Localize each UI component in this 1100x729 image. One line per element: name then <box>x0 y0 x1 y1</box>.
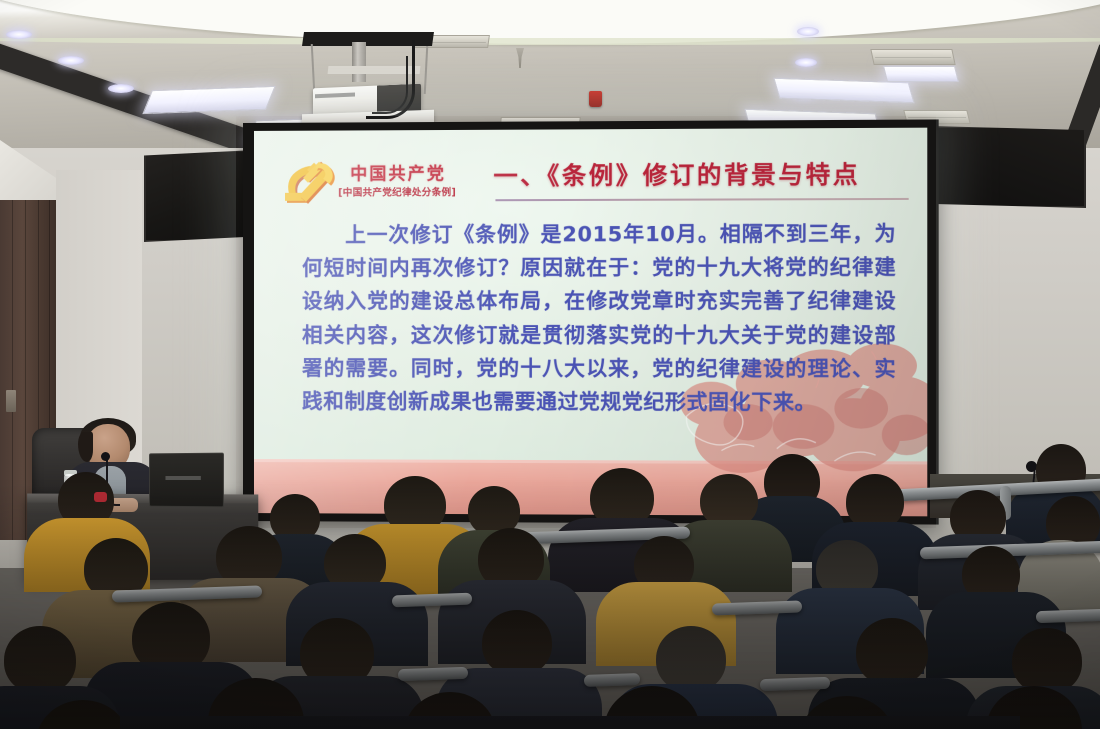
seat-row-rail <box>584 673 640 687</box>
seat-row-rail <box>760 677 830 691</box>
audience-hair-clip <box>94 492 107 502</box>
track-spotlight <box>6 30 32 39</box>
audience-head <box>856 618 928 686</box>
track-spotlight <box>797 27 819 36</box>
seat-row-rail <box>1036 609 1100 623</box>
wall-switch-plate[interactable] <box>6 390 16 412</box>
track-spotlight <box>795 58 817 67</box>
seat-row-rail <box>398 667 468 681</box>
recessed-light-panel <box>142 86 275 114</box>
fire-alarm-strobe <box>589 91 602 107</box>
slide-header: 中国共产党 [中国共产党纪律处分条例] 一、《条例》修订的背景与特点 <box>254 148 927 213</box>
track-spotlight <box>108 84 134 93</box>
hammer-and-sickle-emblem <box>280 159 346 207</box>
projector-support-rod <box>311 44 316 92</box>
slide-brand-subtitle: [中国共产党纪律处分条例] <box>338 184 456 198</box>
projector-cable <box>372 56 408 114</box>
lecture-hall-photograph: 中国共产党 [中国共产党纪律处分条例] 一、《条例》修订的背景与特点 上一次修订… <box>0 0 1100 729</box>
air-vent <box>870 49 955 65</box>
seated-audience <box>0 430 1100 729</box>
audience-head <box>482 610 552 676</box>
audience-body <box>120 716 1020 729</box>
projector-mount-pole <box>352 42 366 82</box>
audience-head <box>656 626 726 692</box>
wall-speaker-panel-right <box>930 126 1086 208</box>
ceiling-cove-edge <box>0 38 1100 45</box>
audience-head <box>4 626 76 694</box>
slide-body-text: 上一次修订《条例》是2015年10月。相隔不到三年，为何短时间内再次修订？原因就… <box>302 217 896 420</box>
wall-speaker-panel-left <box>144 150 256 242</box>
projector-vent-grille <box>315 93 355 99</box>
sprinkler-head <box>516 48 524 68</box>
audience-head <box>1012 628 1082 694</box>
slide-title-underline <box>495 198 908 201</box>
projector-support-rod <box>424 46 429 94</box>
track-spotlight <box>58 56 84 65</box>
slide-brand-name: 中国共产党 <box>350 159 446 184</box>
slide-title: 一、《条例》修订的背景与特点 <box>493 154 860 191</box>
recessed-light-panel <box>883 66 959 82</box>
